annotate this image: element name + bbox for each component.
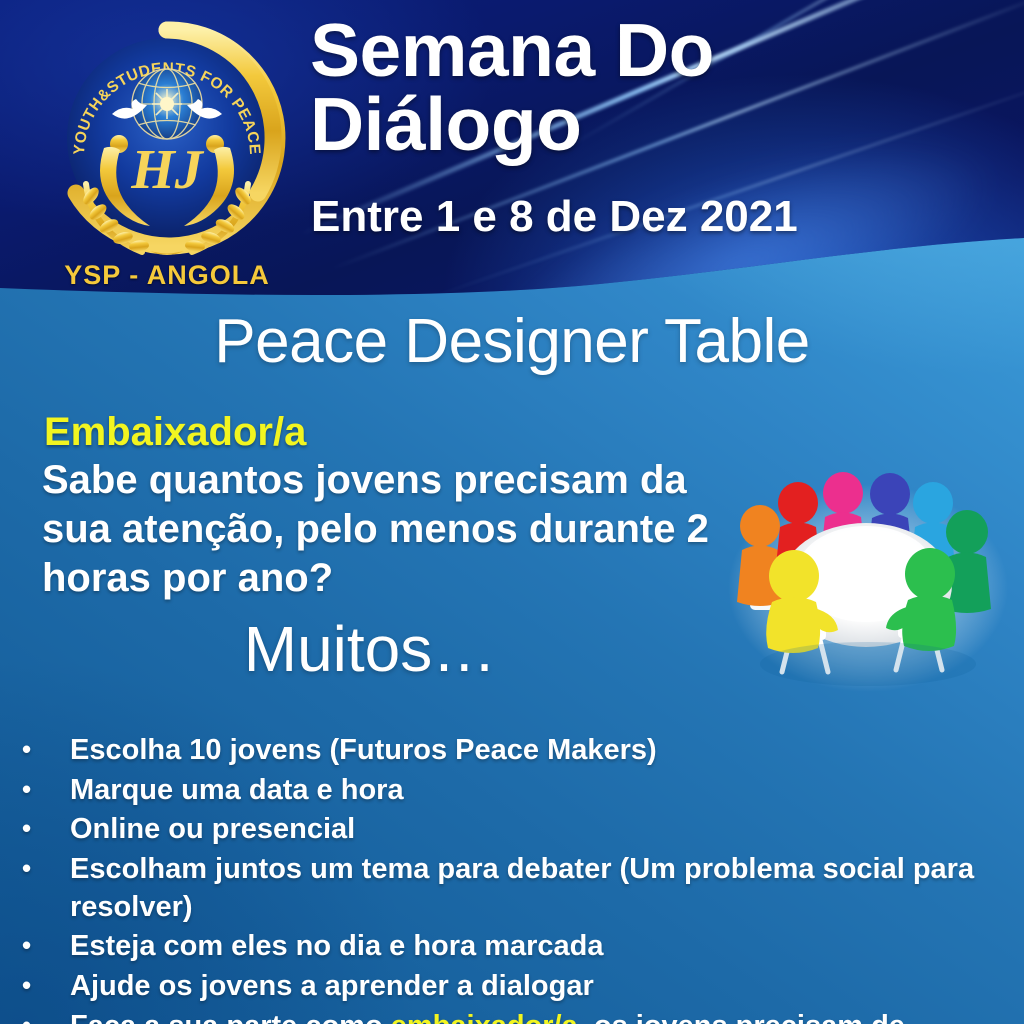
highlighted-word: embaixador/a: [391, 1010, 578, 1024]
list-item-text-highlighted: Faça a sua parte como embaixador/a, os j…: [70, 1008, 1016, 1024]
section-title: Peace Designer Table: [0, 306, 1024, 377]
bullet-icon: •: [16, 732, 70, 767]
list-item-text: Escolham juntos um tema para debater (Um…: [70, 851, 1016, 926]
ysp-logo: YOUTH&STUDENTS FOR PEACE: [42, 16, 292, 286]
poster-title-line1: Semana Do: [310, 14, 1010, 88]
poster-date-range: Entre 1 e 8 de Dez 2021: [311, 192, 798, 242]
list-item: • Faça a sua parte como embaixador/a, os…: [16, 1008, 1016, 1024]
list-item: • Online ou presencial: [16, 811, 1016, 849]
ambassador-label: Embaixador/a: [44, 410, 306, 455]
list-item-text: Ajude os jovens a aprender a dialogar: [70, 968, 1016, 1006]
question-text: Sabe quantos jovens precisam da sua aten…: [42, 456, 722, 604]
list-item: • Ajude os jovens a aprender a dialogar: [16, 968, 1016, 1006]
list-item-text-before: Faça a sua parte como: [70, 1010, 391, 1024]
round-table-illustration: [722, 458, 1014, 694]
bullet-icon: •: [16, 811, 70, 846]
answer-text: Muitos…: [0, 612, 740, 686]
round-table-icon: [722, 458, 1014, 694]
bullet-icon: •: [16, 1008, 70, 1024]
list-item-text: Marque uma data e hora: [70, 772, 1016, 810]
ysp-logo-icon: YOUTH&STUDENTS FOR PEACE: [42, 16, 292, 261]
list-item: • Escolham juntos um tema para debater (…: [16, 851, 1016, 926]
instruction-list: • Escolha 10 jovens (Futuros Peace Maker…: [16, 732, 1016, 1024]
poster-title: Semana Do Diálogo: [310, 14, 1010, 161]
bullet-icon: •: [16, 772, 70, 807]
logo-caption: YSP - ANGOLA: [42, 260, 292, 291]
bullet-icon: •: [16, 928, 70, 963]
globe-icon: [132, 69, 202, 139]
bullet-icon: •: [16, 968, 70, 1003]
list-item: • Marque uma data e hora: [16, 772, 1016, 810]
list-item: • Escolha 10 jovens (Futuros Peace Maker…: [16, 732, 1016, 770]
bullet-icon: •: [16, 851, 70, 886]
list-item-text: Online ou presencial: [70, 811, 1016, 849]
poster-canvas: YOUTH&STUDENTS FOR PEACE: [0, 0, 1024, 1024]
list-item: • Esteja com eles no dia e hora marcada: [16, 928, 1016, 966]
logo-monogram: HJ: [130, 139, 205, 201]
poster-title-line2: Diálogo: [310, 88, 1010, 162]
list-item-text: Escolha 10 jovens (Futuros Peace Makers): [70, 732, 1016, 770]
list-item-text: Esteja com eles no dia e hora marcada: [70, 928, 1016, 966]
